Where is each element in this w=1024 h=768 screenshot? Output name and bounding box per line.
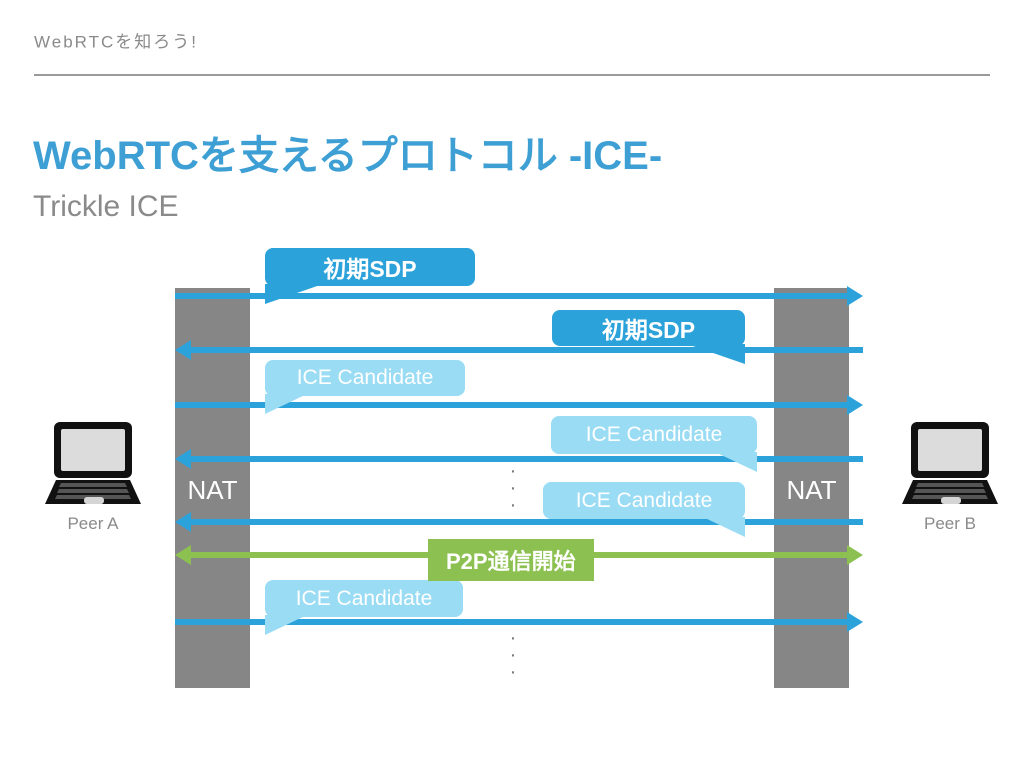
nat-label-right: NAT: [774, 475, 849, 506]
ellipsis-bottom: · · ·: [508, 630, 518, 681]
bubble-msg-1: 初期SDP: [265, 248, 475, 286]
sequence-diagram: NAT NAT Peer A Peer B: [0, 230, 1024, 700]
bubble-msg-6: ICE Candidate: [265, 580, 463, 617]
peer-a-label: Peer A: [23, 514, 163, 534]
bubble-msg-2: 初期SDP: [552, 310, 745, 346]
bubble-tail: [265, 284, 323, 304]
bubble-tail: [687, 344, 745, 364]
bubble-msg-4-label: ICE Candidate: [586, 423, 723, 447]
laptop-icon: [44, 420, 142, 508]
bubble-msg-2-label: 初期SDP: [602, 311, 695, 345]
peer-a: Peer A: [23, 420, 163, 534]
ellipsis-dot: ·: [508, 664, 518, 681]
peer-b-label: Peer B: [880, 514, 1020, 534]
bubble-msg-1-label: 初期SDP: [323, 250, 416, 284]
p2p-badge: P2P通信開始: [428, 539, 594, 581]
bubble-tail: [265, 615, 307, 635]
bubble-msg-4: ICE Candidate: [551, 416, 757, 454]
bubble-msg-3: ICE Candidate: [265, 360, 465, 396]
peer-b: Peer B: [880, 420, 1020, 534]
ellipsis-middle: · · ·: [508, 463, 518, 514]
ellipsis-dot: ·: [508, 497, 518, 514]
header-label: WebRTCを知ろう!: [34, 28, 198, 53]
bubble-msg-6-label: ICE Candidate: [296, 587, 433, 611]
header-divider: [34, 74, 990, 76]
slide-header: WebRTCを知ろう!: [0, 0, 1024, 76]
bubble-tail: [715, 452, 757, 472]
bubble-tail: [265, 394, 307, 414]
bubble-msg-5: ICE Candidate: [543, 482, 745, 519]
bubble-tail: [703, 517, 745, 537]
page-subtitle: Trickle ICE: [33, 190, 179, 224]
bubble-msg-3-label: ICE Candidate: [297, 366, 434, 390]
p2p-label: P2P通信開始: [446, 549, 576, 574]
laptop-icon: [901, 420, 999, 508]
nat-label-left: NAT: [175, 475, 250, 506]
bubble-msg-5-label: ICE Candidate: [576, 489, 713, 513]
page-title: WebRTCを支えるプロトコル -ICE-: [33, 123, 662, 181]
